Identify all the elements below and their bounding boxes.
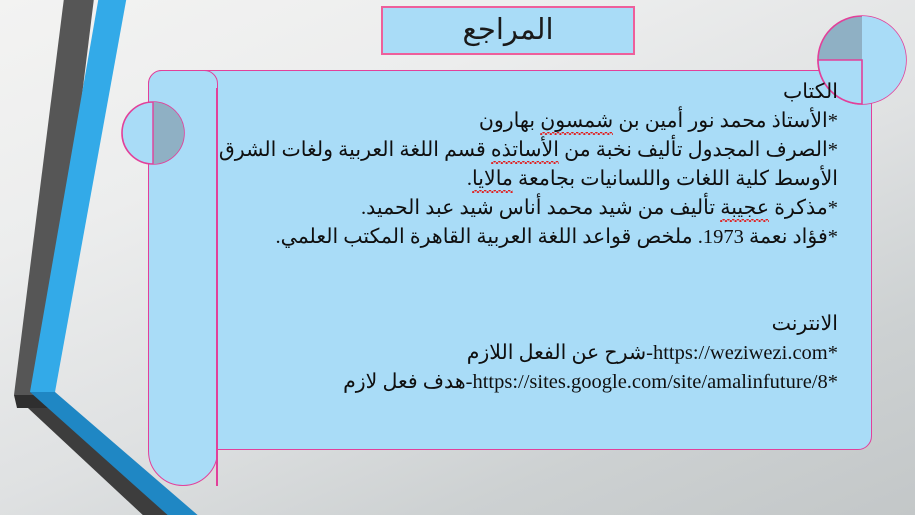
reference-item-4: *فؤاد نعمة 1973. ملخص قواعد اللغة العربي… xyxy=(152,223,838,252)
internet-item-2-prefix: * xyxy=(828,371,838,393)
internet-item-1: *https://weziwezi.com-شرح عن الفعل اللاز… xyxy=(152,339,838,368)
references-content: الكتاب *الأستاذ محمد نور أمين بن شمسون ب… xyxy=(152,78,852,438)
reference-item-3: *مذكرة عجيبة تأليف من شيد محمد أناس شيد … xyxy=(152,194,838,223)
spellcheck-word: عجيبة xyxy=(720,197,769,222)
spellcheck-word: مالايا xyxy=(472,168,513,193)
page-title: المراجع xyxy=(462,16,553,45)
section-spacer xyxy=(152,281,838,310)
internet-item-2-url[interactable]: https://sites.google.com/site/amalinfutu… xyxy=(472,371,827,393)
internet-item-1-label: شرح عن الفعل اللازم xyxy=(467,342,646,364)
internet-item-1-separator: - xyxy=(646,342,653,364)
slide-canvas: المراجع الكتاب *الأستاذ محمد نور xyxy=(0,0,915,515)
heading-internet: الانترنت xyxy=(152,310,838,339)
internet-item-2: *https://sites.google.com/site/amalinfut… xyxy=(152,368,838,397)
reference-item-2-line2: الأوسط كلية اللغات واللسانيات بجامعة مال… xyxy=(152,165,838,194)
reference-item-2-line1: *الصرف المجدول تأليف نخبة من الأساتذه قس… xyxy=(152,136,838,165)
internet-item-1-prefix: * xyxy=(828,342,838,364)
heading-books: الكتاب xyxy=(152,78,838,107)
internet-item-1-url[interactable]: https://weziwezi.com xyxy=(653,342,828,364)
spellcheck-word: الأساتذه xyxy=(491,139,559,164)
reference-item-1: *الأستاذ محمد نور أمين بن شمسون بهارون xyxy=(152,107,838,136)
section-spacer xyxy=(152,252,838,281)
spellcheck-word: شمسون xyxy=(540,110,613,135)
slide-title-box: المراجع xyxy=(381,6,635,55)
internet-item-2-label: هدف فعل لازم xyxy=(343,371,466,393)
